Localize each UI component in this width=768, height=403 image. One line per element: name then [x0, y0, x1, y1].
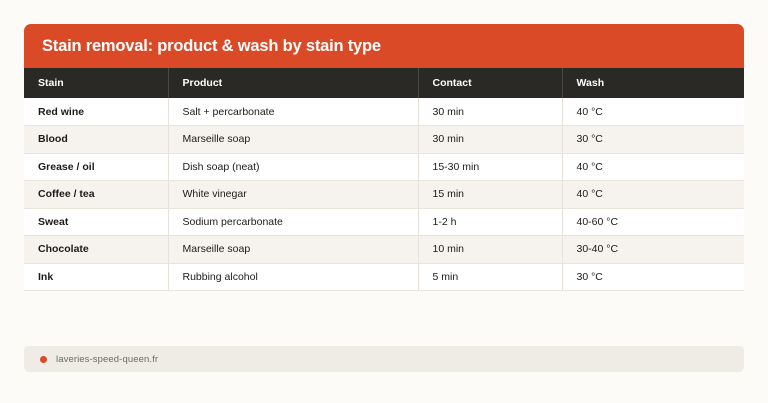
table-header: Stain Product Contact Wash: [24, 68, 744, 98]
source-footer: laveries-speed-queen.fr: [24, 346, 744, 372]
cell-product: Sodium percarbonate: [168, 208, 418, 236]
cell-wash: 30 °C: [562, 126, 744, 154]
table-row: Blood Marseille soap 30 min 30 °C: [24, 126, 744, 154]
table-body: Red wine Salt + percarbonate 30 min 40 °…: [24, 98, 744, 291]
cell-product: Dish soap (neat): [168, 153, 418, 181]
cell-stain: Blood: [24, 126, 168, 154]
column-header-wash: Wash: [562, 68, 744, 98]
cell-contact: 10 min: [418, 236, 562, 264]
cell-contact: 30 min: [418, 98, 562, 126]
table-row: Sweat Sodium percarbonate 1-2 h 40-60 °C: [24, 208, 744, 236]
cell-wash: 40 °C: [562, 98, 744, 126]
stain-removal-card: Stain removal: product & wash by stain t…: [24, 24, 744, 291]
cell-wash: 40 °C: [562, 181, 744, 209]
cell-product: Salt + percarbonate: [168, 98, 418, 126]
page-root: Stain removal: product & wash by stain t…: [0, 0, 768, 403]
cell-wash: 40 °C: [562, 153, 744, 181]
column-header-contact: Contact: [418, 68, 562, 98]
stain-removal-table: Stain Product Contact Wash Red wine Salt…: [24, 68, 744, 291]
cell-stain: Sweat: [24, 208, 168, 236]
cell-contact: 5 min: [418, 263, 562, 291]
table-row: Grease / oil Dish soap (neat) 15-30 min …: [24, 153, 744, 181]
cell-contact: 15 min: [418, 181, 562, 209]
cell-product: White vinegar: [168, 181, 418, 209]
dot-icon: [40, 356, 47, 363]
table-row: Chocolate Marseille soap 10 min 30-40 °C: [24, 236, 744, 264]
cell-contact: 15-30 min: [418, 153, 562, 181]
table-row: Red wine Salt + percarbonate 30 min 40 °…: [24, 98, 744, 126]
column-header-product: Product: [168, 68, 418, 98]
cell-stain: Ink: [24, 263, 168, 291]
cell-wash: 30-40 °C: [562, 236, 744, 264]
cell-wash: 40-60 °C: [562, 208, 744, 236]
cell-contact: 30 min: [418, 126, 562, 154]
cell-stain: Chocolate: [24, 236, 168, 264]
cell-stain: Red wine: [24, 98, 168, 126]
table-row: Coffee / tea White vinegar 15 min 40 °C: [24, 181, 744, 209]
table-row: Ink Rubbing alcohol 5 min 30 °C: [24, 263, 744, 291]
cell-stain: Grease / oil: [24, 153, 168, 181]
table-header-row: Stain Product Contact Wash: [24, 68, 744, 98]
cell-contact: 1-2 h: [418, 208, 562, 236]
source-url: laveries-speed-queen.fr: [56, 354, 158, 365]
card-title-bar: Stain removal: product & wash by stain t…: [24, 24, 744, 68]
cell-product: Rubbing alcohol: [168, 263, 418, 291]
cell-wash: 30 °C: [562, 263, 744, 291]
page-title: Stain removal: product & wash by stain t…: [42, 38, 381, 55]
cell-stain: Coffee / tea: [24, 181, 168, 209]
column-header-stain: Stain: [24, 68, 168, 98]
cell-product: Marseille soap: [168, 126, 418, 154]
cell-product: Marseille soap: [168, 236, 418, 264]
